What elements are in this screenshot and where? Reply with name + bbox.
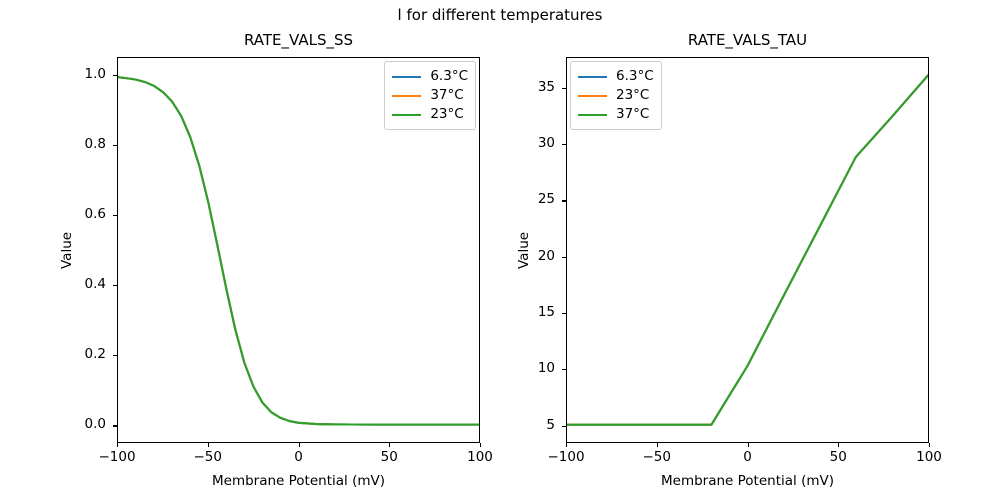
- legend-label: 6.3°C: [616, 69, 654, 84]
- legend-line-swatch: [578, 114, 607, 116]
- x-tick-label: 0: [713, 450, 783, 465]
- x-tick-label: 50: [354, 450, 424, 465]
- y-tick-mark: [562, 88, 566, 89]
- y-tick-label: 30: [495, 136, 555, 151]
- x-tick-mark: [838, 443, 839, 447]
- legend-line-swatch: [392, 114, 421, 116]
- y-tick-mark: [562, 369, 566, 370]
- x-tick-mark: [657, 443, 658, 447]
- legend-entry: 37°C: [578, 105, 654, 124]
- legend-label: 37°C: [430, 88, 463, 103]
- x-tick-mark: [299, 443, 300, 447]
- y-tick-mark: [113, 355, 117, 356]
- y-tick-label: 35: [495, 80, 555, 95]
- y-axis-label-right: Value: [516, 231, 532, 268]
- y-tick-mark: [113, 425, 117, 426]
- y-tick-label: 5: [495, 418, 555, 433]
- legend-label: 23°C: [616, 88, 649, 103]
- legend-line-swatch: [578, 95, 607, 97]
- subplot-title-right: RATE_VALS_TAU: [566, 31, 929, 49]
- x-tick-mark: [117, 443, 118, 447]
- x-tick-mark: [929, 443, 930, 447]
- legend-label: 23°C: [430, 107, 463, 122]
- y-tick-mark: [562, 200, 566, 201]
- y-tick-label: 25: [495, 192, 555, 207]
- subplot-title-left: RATE_VALS_SS: [117, 31, 480, 49]
- x-tick-label: −50: [622, 450, 692, 465]
- y-tick-mark: [562, 426, 566, 427]
- subplot-rate-vals-ss: RATE_VALS_SS −100−50050100 0.00.20.40.60…: [117, 57, 480, 443]
- subplot-rate-vals-tau: RATE_VALS_TAU −100−50050100 510152025303…: [566, 57, 929, 443]
- legend-label: 37°C: [616, 107, 649, 122]
- x-tick-label: 50: [803, 450, 873, 465]
- x-tick-label: 0: [264, 450, 334, 465]
- y-tick-label: 0.6: [46, 207, 106, 222]
- y-tick-mark: [562, 313, 566, 314]
- legend-entry: 37°C: [392, 86, 468, 105]
- legend-entry: 23°C: [392, 105, 468, 124]
- y-tick-mark: [562, 257, 566, 258]
- x-tick-label: −100: [531, 450, 601, 465]
- x-tick-label: −100: [82, 450, 152, 465]
- y-tick-label: 0.8: [46, 137, 106, 152]
- x-axis-label-right: Membrane Potential (mV): [566, 473, 929, 489]
- x-tick-mark: [208, 443, 209, 447]
- legend-left[interactable]: 6.3°C37°C23°C: [384, 61, 476, 130]
- figure-suptitle: l for different temperatures: [0, 6, 1000, 24]
- x-tick-label: 100: [894, 450, 964, 465]
- y-tick-label: 15: [495, 305, 555, 320]
- legend-entry: 6.3°C: [578, 67, 654, 86]
- legend-label: 6.3°C: [430, 69, 468, 84]
- y-tick-mark: [113, 285, 117, 286]
- y-tick-label: 0.4: [46, 277, 106, 292]
- y-tick-label: 0.2: [46, 347, 106, 362]
- y-axis-label-left: Value: [59, 231, 75, 268]
- x-tick-mark: [480, 443, 481, 447]
- x-axis-label-left: Membrane Potential (mV): [117, 473, 480, 489]
- y-tick-label: 10: [495, 361, 555, 376]
- x-tick-label: −50: [173, 450, 243, 465]
- legend-entry: 23°C: [578, 86, 654, 105]
- x-tick-label: 100: [445, 450, 515, 465]
- y-tick-mark: [562, 144, 566, 145]
- legend-entry: 6.3°C: [392, 67, 468, 86]
- legend-line-swatch: [578, 76, 607, 78]
- y-tick-label: 0.0: [46, 417, 106, 432]
- legend-right[interactable]: 6.3°C23°C37°C: [570, 61, 662, 130]
- y-tick-mark: [113, 75, 117, 76]
- legend-line-swatch: [392, 95, 421, 97]
- y-tick-mark: [113, 215, 117, 216]
- x-tick-mark: [748, 443, 749, 447]
- legend-line-swatch: [392, 76, 421, 78]
- x-tick-mark: [389, 443, 390, 447]
- y-tick-label: 1.0: [46, 67, 106, 82]
- y-tick-mark: [113, 145, 117, 146]
- x-tick-mark: [566, 443, 567, 447]
- matplotlib-figure: l for different temperatures RATE_VALS_S…: [0, 0, 1000, 500]
